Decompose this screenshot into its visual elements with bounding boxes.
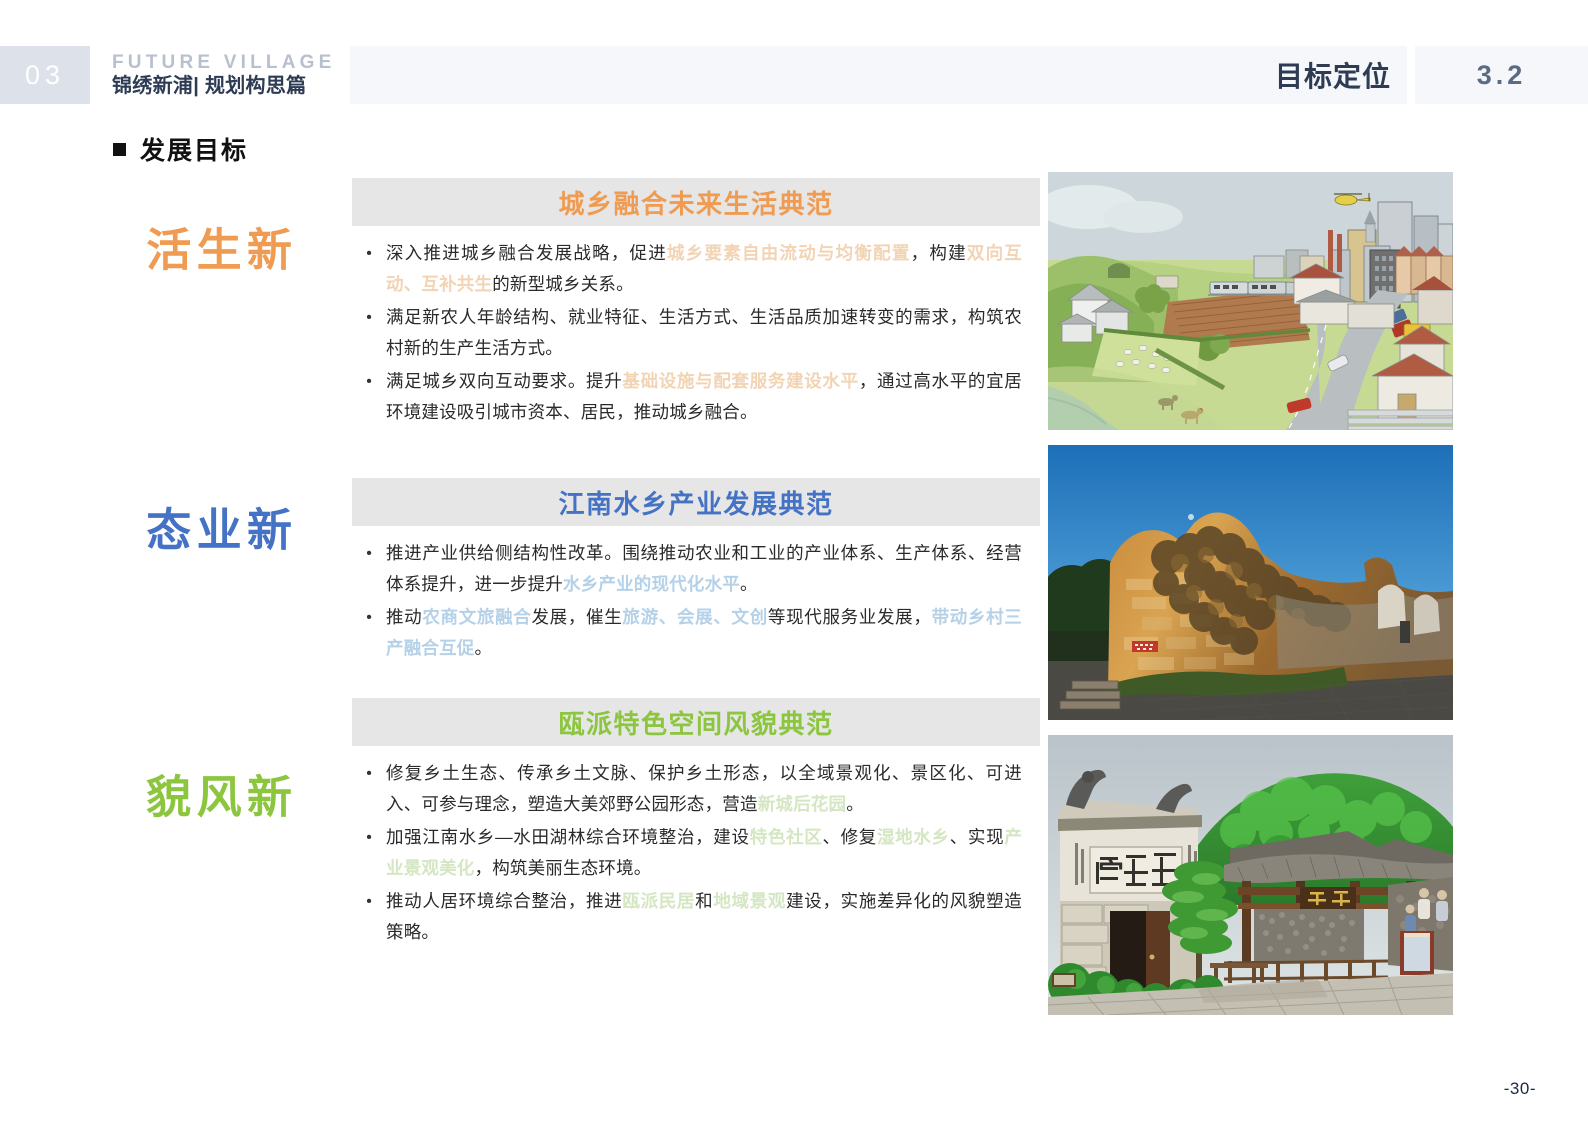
body-phrase: 。 bbox=[475, 638, 493, 658]
body-phrase: 、实现 bbox=[950, 827, 1005, 847]
vertical-label-3: 新风貌 bbox=[230, 773, 290, 823]
bullet-item: •满足新农人年龄结构、就业特征、生活方式、生活品质加速转变的需求，构筑农村新的生… bbox=[352, 302, 1022, 364]
urban-rural-integration-illustration bbox=[1048, 172, 1453, 430]
body-phrase: 深入推进城乡融合发展战略，促进 bbox=[386, 243, 667, 263]
bullet-item: •加强江南水乡—水田湖林综合环境整治，建设特色社区、修复湿地水乡、实现产业景观美… bbox=[352, 822, 1022, 884]
bullet-text: 推动人居环境综合整治，推进瓯派民居和地域景观建设，实施差异化的风貌塑造策略。 bbox=[386, 886, 1022, 948]
block-title-bar-2: 江南水乡产业发展典范 bbox=[352, 478, 1040, 526]
body-phrase: 和 bbox=[695, 891, 713, 911]
block-title-1: 城乡融合未来生活典范 bbox=[558, 184, 833, 221]
ancestral-hall-courtyard-photo: 宀 bbox=[1048, 735, 1453, 1015]
highlighted-phrase: 新城后花园 bbox=[758, 794, 847, 814]
body-phrase: 满足新农人年龄结构、就业特征、生活方式、生活品质加速转变的需求，构筑农村新的生产… bbox=[386, 307, 1022, 358]
bullet-text: 满足新农人年龄结构、就业特征、生活方式、生活品质加速转变的需求，构筑农村新的生产… bbox=[386, 302, 1022, 364]
section-title: 目标定位 bbox=[1275, 55, 1391, 95]
body-phrase: 推动 bbox=[386, 607, 422, 627]
section-number: 3.2 bbox=[1477, 60, 1527, 91]
bullet-dot-icon: • bbox=[352, 886, 386, 917]
body-phrase: 发展，催生 bbox=[531, 607, 622, 627]
ivy-covered-ancient-wall-photo bbox=[1048, 445, 1453, 720]
svg-text:宀: 宀 bbox=[1098, 858, 1124, 888]
highlighted-phrase: 瓯派民居 bbox=[622, 891, 695, 911]
bullet-text: 深入推进城乡融合发展战略，促进城乡要素自由流动与均衡配置，构建双向互动、互补共生… bbox=[386, 238, 1022, 300]
vertical-label-1: 新生活 bbox=[230, 226, 290, 276]
brand-en-title: FUTURE VILLAGE bbox=[112, 51, 352, 74]
brand-cn-title: 锦绣新浦| 规划构思篇 bbox=[112, 74, 352, 99]
bullet-list-3: •修复乡土生态、传承乡土文脉、保护乡土形态，以全域景观化、景区化、可进入、可参与… bbox=[352, 758, 1022, 950]
block-title-bar-3: 瓯派特色空间风貌典范 bbox=[352, 698, 1040, 746]
section-number-block: 3.2 bbox=[1415, 46, 1588, 104]
page-title: 发展目标 bbox=[140, 131, 248, 167]
bullet-text: 加强江南水乡—水田湖林综合环境整治，建设特色社区、修复湿地水乡、实现产业景观美化… bbox=[386, 822, 1022, 884]
body-phrase: ，构筑美丽生态环境。 bbox=[475, 858, 652, 878]
block-title-3: 瓯派特色空间风貌典范 bbox=[558, 704, 833, 741]
bullet-dot-icon: • bbox=[352, 602, 386, 633]
vertical-label-2: 新业态 bbox=[230, 506, 290, 556]
page-heading: 发展目标 bbox=[113, 131, 248, 167]
bullet-list-1: •深入推进城乡融合发展战略，促进城乡要素自由流动与均衡配置，构建双向互动、互补共… bbox=[352, 238, 1022, 430]
bullet-dot-icon: • bbox=[352, 758, 386, 789]
bullet-item: •推动农商文旅融合发展，催生旅游、会展、文创等现代服务业发展，带动乡村三产融合互… bbox=[352, 602, 1022, 664]
chapter-number: 03 bbox=[25, 60, 65, 91]
block-title-bar-1: 城乡融合未来生活典范 bbox=[352, 178, 1040, 226]
brand-title-group: FUTURE VILLAGE 锦绣新浦| 规划构思篇 bbox=[112, 44, 352, 106]
bullet-text: 修复乡土生态、传承乡土文脉、保护乡土形态，以全域景观化、景区化、可进入、可参与理… bbox=[386, 758, 1022, 820]
bullet-dot-icon: • bbox=[352, 822, 386, 853]
body-phrase: ，构建 bbox=[911, 243, 967, 263]
highlighted-phrase: 特色社区 bbox=[750, 827, 823, 847]
bullet-dot-icon: • bbox=[352, 538, 386, 569]
chapter-number-block: 03 bbox=[0, 46, 90, 104]
bullet-list-2: •推进产业供给侧结构性改革。围绕推动农业和工业的产业体系、生产体系、经营体系提升… bbox=[352, 538, 1022, 666]
bullet-item: •深入推进城乡融合发展战略，促进城乡要素自由流动与均衡配置，构建双向互动、互补共… bbox=[352, 238, 1022, 300]
bullet-item: •满足城乡双向互动要求。提升基础设施与配套服务建设水平，通过高水平的宜居环境建设… bbox=[352, 366, 1022, 428]
highlighted-phrase: 基础设施与配套服务建设水平 bbox=[622, 371, 858, 391]
bullet-dot-icon: • bbox=[352, 302, 386, 333]
highlighted-phrase: 城乡要素自由流动与均衡配置 bbox=[667, 243, 911, 263]
page-number: -30- bbox=[1504, 1079, 1536, 1099]
block-title-2: 江南水乡产业发展典范 bbox=[558, 484, 833, 521]
page-header: 03 FUTURE VILLAGE 锦绣新浦| 规划构思篇 目标定位 3.2 bbox=[0, 46, 1588, 104]
body-phrase: 满足城乡双向互动要求。提升 bbox=[386, 371, 622, 391]
highlighted-phrase: 农商文旅融合 bbox=[422, 607, 531, 627]
body-phrase: 。 bbox=[846, 794, 864, 814]
header-band: 目标定位 bbox=[350, 46, 1407, 104]
body-phrase: 修复乡土生态、传承乡土文脉、保护乡土形态，以全域景观化、景区化、可进入、可参与理… bbox=[386, 763, 1022, 814]
highlighted-phrase: 水乡产业的现代化水平 bbox=[563, 574, 740, 594]
square-bullet-icon bbox=[113, 143, 126, 156]
bullet-text: 满足城乡双向互动要求。提升基础设施与配套服务建设水平，通过高水平的宜居环境建设吸… bbox=[386, 366, 1022, 428]
body-phrase: 加强江南水乡—水田湖林综合环境整治，建设 bbox=[386, 827, 750, 847]
highlighted-phrase: 旅游、会展、文创 bbox=[622, 607, 767, 627]
bullet-dot-icon: • bbox=[352, 366, 386, 397]
bullet-text: 推进产业供给侧结构性改革。围绕推动农业和工业的产业体系、生产体系、经营体系提升，… bbox=[386, 538, 1022, 600]
highlighted-phrase: 地域景观 bbox=[713, 891, 786, 911]
highlighted-phrase: 湿地水乡 bbox=[877, 827, 950, 847]
bullet-item: •推动人居环境综合整治，推进瓯派民居和地域景观建设，实施差异化的风貌塑造策略。 bbox=[352, 886, 1022, 948]
body-phrase: 等现代服务业发展， bbox=[768, 607, 932, 627]
bullet-item: •修复乡土生态、传承乡土文脉、保护乡土形态，以全域景观化、景区化、可进入、可参与… bbox=[352, 758, 1022, 820]
body-phrase: 推动人居环境综合整治，推进 bbox=[386, 891, 622, 911]
body-phrase: 的新型城乡关系。 bbox=[492, 274, 634, 294]
bullet-dot-icon: • bbox=[352, 238, 386, 269]
bullet-text: 推动农商文旅融合发展，催生旅游、会展、文创等现代服务业发展，带动乡村三产融合互促… bbox=[386, 602, 1022, 664]
body-phrase: 、修复 bbox=[822, 827, 877, 847]
body-phrase: 。 bbox=[740, 574, 758, 594]
bullet-item: •推进产业供给侧结构性改革。围绕推动农业和工业的产业体系、生产体系、经营体系提升… bbox=[352, 538, 1022, 600]
